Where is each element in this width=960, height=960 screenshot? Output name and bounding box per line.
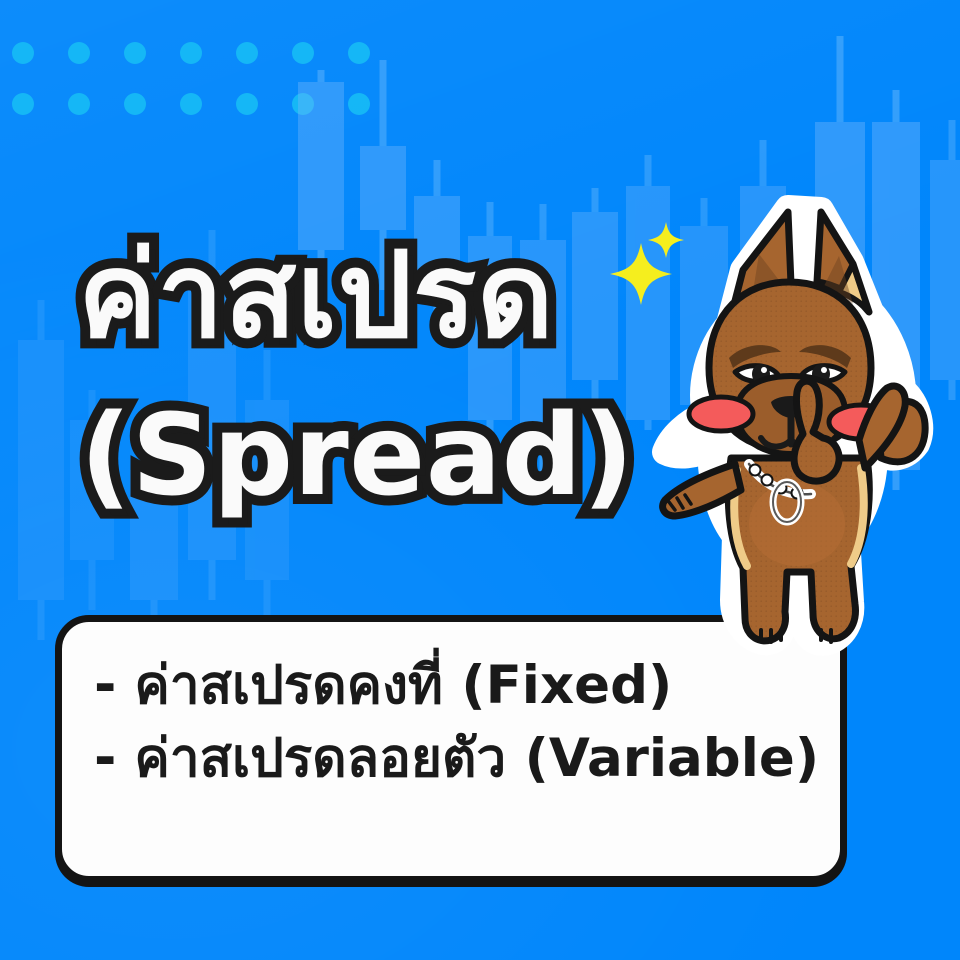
poster-canvas: ค่าสเปรด (Spread) -ค่าสเปรดคงที่ (Fixed)…: [0, 0, 960, 960]
bullet-label: ค่าสเปรดลอยตัว (Variable): [134, 729, 819, 788]
candlestick-body: [245, 400, 289, 580]
candlestick-body: [414, 196, 460, 296]
candlestick-body: [188, 270, 236, 560]
bullet-item: -ค่าสเปรดลอยตัว (Variable): [94, 729, 814, 788]
candlestick-body: [298, 82, 344, 250]
bullet-dash: -: [94, 731, 116, 785]
bullet-dash: -: [94, 658, 116, 712]
candlestick-body: [468, 236, 512, 420]
candlestick-body: [360, 146, 406, 230]
candlestick-body: [520, 240, 566, 440]
bullet-list: -ค่าสเปรดคงที่ (Fixed)-ค่าสเปรดลอยตัว (V…: [94, 656, 814, 803]
mascot-dog-shh: [625, 200, 955, 670]
candlestick-body: [18, 340, 64, 600]
candlestick-body: [70, 420, 114, 560]
candlestick-body: [130, 470, 178, 600]
bullet-label: ค่าสเปรดคงที่ (Fixed): [134, 656, 672, 715]
